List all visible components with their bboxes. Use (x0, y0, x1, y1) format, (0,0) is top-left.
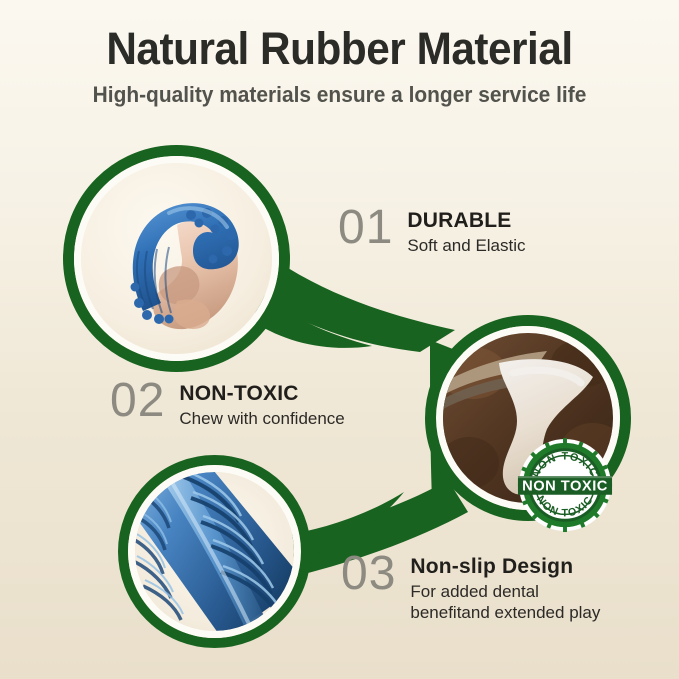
stamp-center-text: NON TOXIC (522, 478, 608, 494)
feature-item-non-slip: 03 Non-slip Design For added dental bene… (341, 551, 600, 624)
feature-text-03: Non-slip Design For added dental benefit… (410, 551, 600, 624)
photo-hand-bending-chew-toy (81, 163, 272, 354)
feature-number-03: 03 (341, 551, 396, 597)
band-circle1-to-circle2 (268, 268, 455, 352)
feature-subtext-durable: Soft and Elastic (407, 235, 525, 256)
feature-subtext-non-slip-line2: benefitand extended play (410, 602, 600, 623)
toy-in-hand-illustration (81, 163, 272, 354)
feature-item-durable: 01 DURABLE Soft and Elastic (338, 205, 526, 256)
feature-subtext-non-slip-line1: For added dental (410, 581, 600, 602)
feature-heading-non-slip: Non-slip Design (410, 555, 600, 579)
ridged-surface-illustration (135, 472, 294, 631)
product-infographic: Natural Rubber Material High-quality mat… (0, 0, 679, 679)
feature-heading-non-toxic: NON-TOXIC (179, 382, 344, 406)
feature-text-02: NON-TOXIC Chew with confidence (179, 378, 344, 429)
non-toxic-stamp-badge: NON TOXIC NON TOXIC NON TOXIC (516, 436, 614, 534)
photo-ridged-toy-surface (135, 472, 294, 631)
feature-text-01: DURABLE Soft and Elastic (407, 205, 525, 256)
page-title: Natural Rubber Material (20, 24, 658, 74)
header: Natural Rubber Material High-quality mat… (0, 0, 679, 108)
feature-subtext-non-toxic: Chew with confidence (179, 408, 344, 429)
feature-number-01: 01 (338, 205, 393, 251)
feature-item-non-toxic: 02 NON-TOXIC Chew with confidence (110, 378, 345, 429)
feature-heading-durable: DURABLE (407, 209, 525, 233)
feature-number-02: 02 (110, 378, 165, 424)
page-subtitle: High-quality materials ensure a longer s… (17, 82, 662, 108)
